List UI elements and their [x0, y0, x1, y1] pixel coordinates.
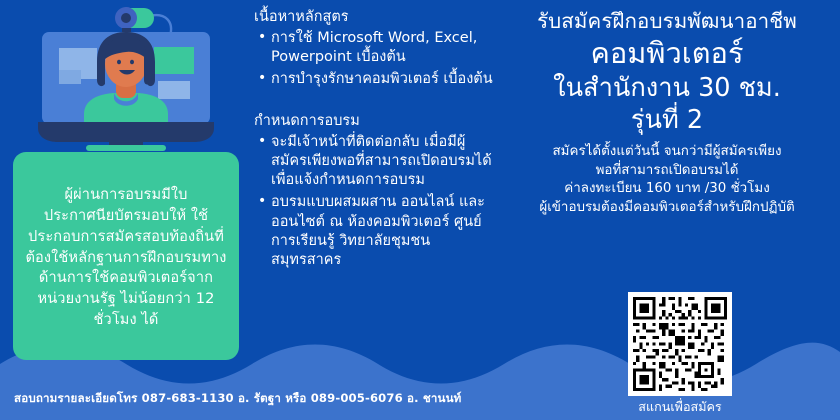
list-item: การบำรุงรักษาคอมพิวเตอร์ เบื้องต้น — [254, 70, 494, 89]
schedule-list: จะมีเจ้าหน้าที่ติดต่อกลับ เมื่อมีผู้สมัค… — [254, 133, 494, 270]
page-title-line-3: ในสำนักงาน 30 ชม. — [494, 72, 840, 105]
list-item: จะมีเจ้าหน้าที่ติดต่อกลับ เมื่อมีผู้สมัค… — [254, 133, 494, 190]
course-content-heading: เนื้อหาหลักสูตร — [254, 8, 494, 27]
illustration-video-call — [14, 2, 238, 152]
registration-detail-line: ผู้เข้าอบรมต้องมีคอมพิวเตอร์สำหรับฝึกปฏิ… — [494, 199, 840, 218]
registration-detail-line: พอที่สามารถเปิดอบรมได้ — [494, 162, 840, 181]
registration-detail-line: ค่าลงทะเบียน 160 บาท /30 ชั่วโมง — [494, 180, 840, 199]
section-spacer — [254, 92, 494, 112]
certificate-card: ผู้ผ่านการอบรมมีใบประกาศนียบัตรมอบให้ ใช… — [13, 152, 239, 360]
page-title-line-4: รุ่นที่ 2 — [494, 104, 840, 137]
course-content-list: การใช้ Microsoft Word, Excel, Powerpoint… — [254, 29, 494, 89]
webcam-lens — [121, 13, 131, 23]
right-column: รับสมัครฝึกอบรมพัฒนาอาชีพ คอมพิวเตอร์ ใน… — [494, 2, 840, 217]
screen-rect-light-2 — [59, 70, 81, 84]
page-title-line-2: คอมพิวเตอร์ — [494, 35, 840, 72]
page-title-line-1: รับสมัครฝึกอบรมพัฒนาอาชีพ — [494, 8, 840, 34]
registration-detail-line: สมัครได้ตั้งแต่วันนี้ จนกว่ามีผู้สมัครเพ… — [494, 143, 840, 162]
contact-footer: สอบถามรายละเอียดโทร 087-683-1130 อ. รัตฐ… — [14, 390, 461, 408]
list-item: การใช้ Microsoft Word, Excel, Powerpoint… — [254, 29, 494, 67]
list-item: อบรมแบบผสมผสาน ออนไลน์ และออนไซต์ ณ ห้อง… — [254, 193, 494, 270]
qr-section[interactable]: สแกนเพื่อสมัคร — [614, 292, 746, 414]
screen-rect-green — [154, 47, 194, 74]
schedule-heading: กำหนดการอบรม — [254, 112, 494, 131]
middle-column: เนื้อหาหลักสูตร การใช้ Microsoft Word, E… — [254, 8, 494, 273]
certificate-card-text: ผู้ผ่านการอบรมมีใบประกาศนียบัตรมอบให้ ใช… — [23, 185, 229, 330]
poster-canvas: ผู้ผ่านการอบรมมีใบประกาศนียบัตรมอบให้ ใช… — [0, 0, 840, 420]
avatar-eye-right — [130, 60, 134, 65]
qr-caption: สแกนเพื่อสมัคร — [614, 399, 746, 414]
qr-code-icon[interactable] — [628, 292, 732, 396]
monitor-stand — [86, 145, 166, 151]
registration-details: สมัครได้ตั้งแต่วันนี้ จนกว่ามีผู้สมัครเพ… — [494, 143, 840, 217]
avatar-eye-left — [117, 60, 121, 65]
screen-rect-light-3 — [158, 81, 190, 99]
